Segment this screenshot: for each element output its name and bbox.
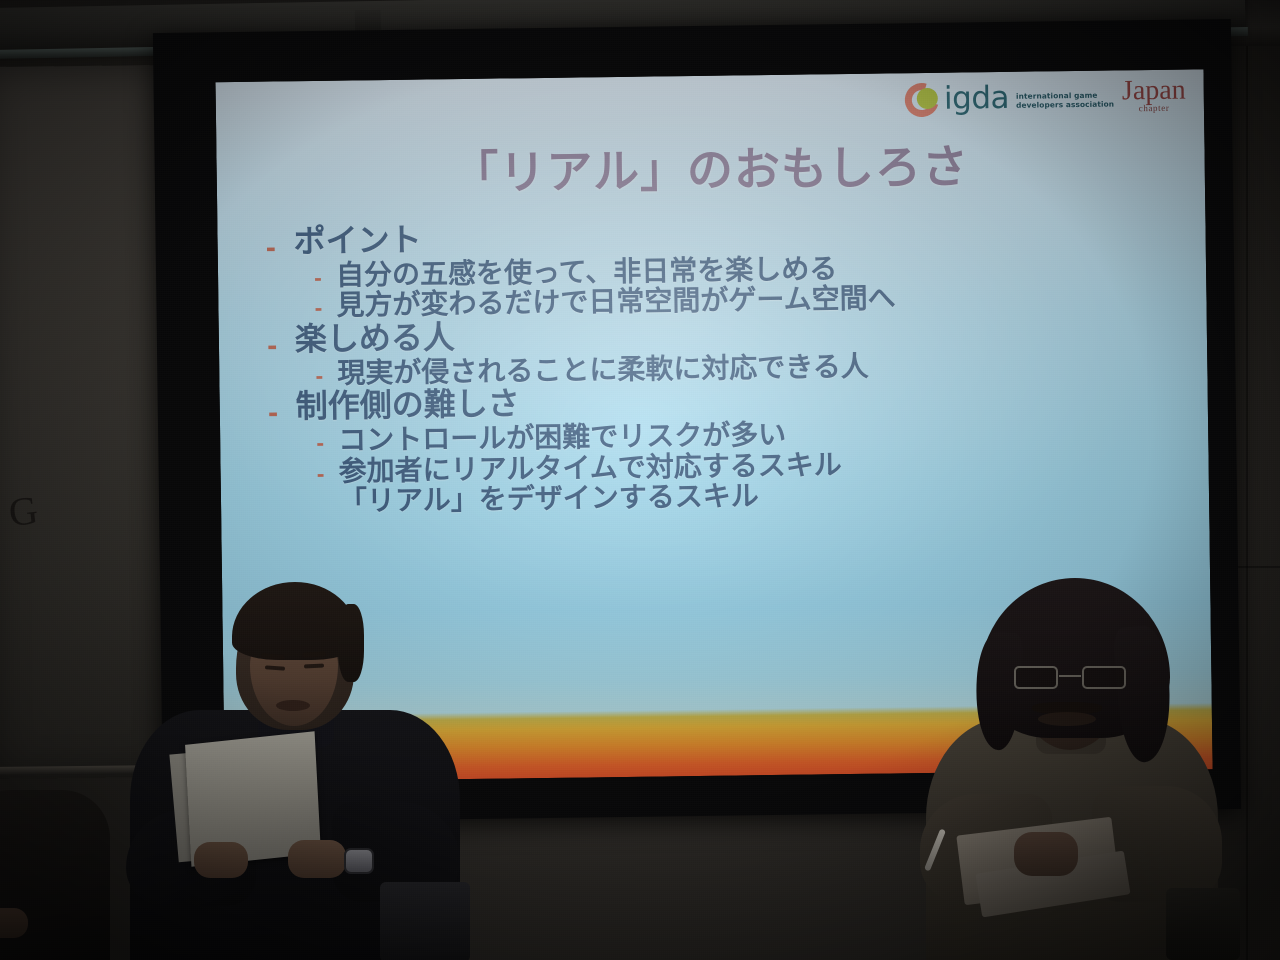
person-left-chair (380, 882, 470, 960)
bullet-dash: - (314, 261, 336, 289)
igda-tagline: international game developers associatio… (1016, 90, 1114, 110)
person-left-hand (194, 842, 248, 878)
bullet-text: 「リアル」をデザインするスキル (339, 481, 759, 516)
bullet-text: 参加者にリアルタイムで対応するスキル (338, 450, 842, 486)
person-corner-hand (0, 908, 28, 938)
bullet-text: 制作側の難しさ (296, 387, 520, 424)
person-left-hand (288, 840, 346, 878)
slide-bullet-list: - ポイント - 自分の五感を使って、非日常を楽しめる - 見方が変わるだけで日… (265, 212, 1189, 517)
photo-scene: G 8 igda international game d (0, 0, 1280, 960)
igda-chapter: Japan chapter (1122, 77, 1186, 113)
wall-seam-vertical (1246, 0, 1248, 960)
igda-wordmark: igda (944, 82, 1009, 114)
person-left-wristwatch (344, 848, 374, 874)
bullet-text: ポイント (293, 224, 421, 259)
bullet-dash: - (268, 390, 296, 425)
whiteboard-mark-g: G (7, 490, 40, 533)
whiteboard-mark-8: 8 (0, 591, 2, 623)
bullet-dash: - (316, 426, 338, 454)
person-right-glasses (1014, 666, 1126, 690)
person-right-presenter (880, 570, 1240, 960)
chapter-label: chapter (1139, 103, 1170, 113)
person-left-hair (232, 582, 358, 660)
igda-japan-logo: igda international game developers assoc… (905, 80, 1186, 118)
bullet-dash: - (314, 291, 336, 319)
slide-title: 「リアル」のおもしろさ (216, 127, 1205, 206)
bullet-dash-hidden: - (317, 487, 339, 515)
igda-tagline-line2: developers association (1016, 100, 1114, 111)
bullet-dash: - (267, 323, 295, 358)
person-left-presenter (108, 570, 468, 960)
person-right-mouth (1038, 712, 1096, 726)
bullet-dash: - (316, 456, 338, 484)
person-right-chair (1166, 888, 1240, 960)
igda-circle-mark-icon (905, 83, 939, 117)
chapter-name: Japan (1122, 77, 1186, 104)
bullet-dash: - (265, 225, 293, 260)
person-corner-audience (0, 790, 120, 960)
bullet-text: 楽しめる人 (295, 321, 455, 357)
person-left-mouth (276, 700, 310, 711)
person-right-hand (1014, 832, 1078, 876)
bullet-text: 見方が変わるだけで日常空間がゲーム空間へ (336, 284, 896, 321)
bullet-text: 現実が侵されることに柔軟に対応できる人 (337, 352, 869, 388)
bullet-dash: - (315, 358, 337, 386)
